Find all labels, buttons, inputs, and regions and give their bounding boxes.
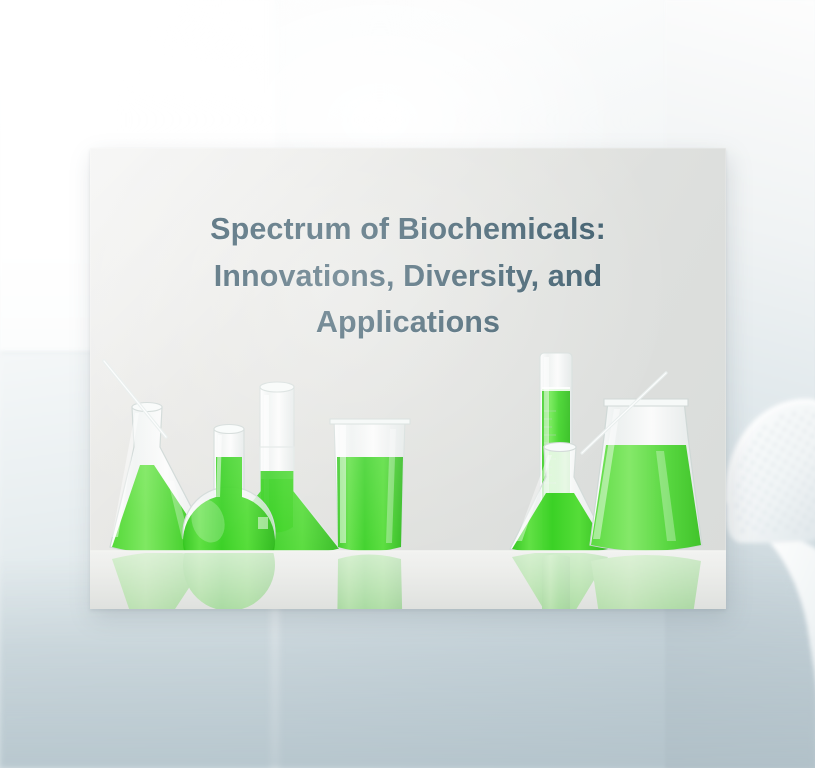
poster-card: Spectrum of Biochemicals: Innovations, D… <box>90 148 726 609</box>
title-block: Spectrum of Biochemicals: Innovations, D… <box>90 206 726 346</box>
erlenmeyer-flask-right <box>590 399 702 551</box>
glassware-illustration <box>90 351 726 609</box>
beaker <box>330 419 410 552</box>
office-chair <box>722 385 815 715</box>
poster-title: Spectrum of Biochemicals: Innovations, D… <box>134 206 682 346</box>
scene-root: Spectrum of Biochemicals: Innovations, D… <box>0 0 815 768</box>
